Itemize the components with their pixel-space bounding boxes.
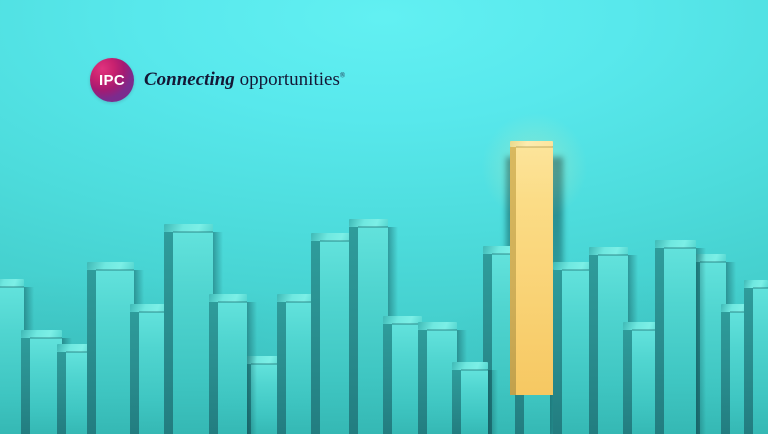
- bar-front-face: [96, 270, 134, 434]
- bar-top-edge: [96, 269, 134, 271]
- bar-side-face: [383, 324, 392, 434]
- hero-banner: IPC Connecting opportunities®: [0, 0, 768, 434]
- ipc-logo[interactable]: IPC Connecting opportunities®: [90, 58, 345, 102]
- bar-side-face: [21, 338, 30, 434]
- bar-side-face: [623, 330, 632, 434]
- bar-front-face: [173, 232, 213, 434]
- bar-drop-shadow: [488, 370, 498, 434]
- bar-side-face: [87, 270, 96, 434]
- registered-trademark-icon: ®: [340, 72, 345, 80]
- tagline-bold-word: Connecting: [144, 69, 235, 90]
- bar-top-edge: [461, 369, 488, 371]
- bar-side-face: [553, 270, 562, 434]
- bar-front-face: [218, 302, 247, 434]
- bar-side-face: [721, 312, 730, 434]
- bar-side-face: [655, 248, 664, 434]
- bar-top-edge: [664, 247, 696, 249]
- bar-side-face: [311, 241, 320, 434]
- bar: [218, 302, 247, 434]
- bar-top-edge: [516, 146, 553, 148]
- bar: [96, 270, 134, 434]
- bar-top-edge: [30, 337, 62, 339]
- ipc-logo-mark-text: IPC: [99, 72, 125, 89]
- bar-top-edge: [173, 231, 213, 233]
- bar-side-face: [164, 232, 173, 434]
- bar-top-edge: [753, 287, 768, 289]
- bar-side-face: [277, 302, 286, 434]
- bar-front-face: [664, 248, 696, 434]
- accent-bar: [516, 147, 553, 395]
- bar-top-edge: [0, 286, 24, 288]
- ipc-logo-tagline: Connecting opportunities®: [144, 69, 345, 91]
- bar-front-face: [753, 288, 768, 434]
- bar: [173, 232, 213, 434]
- bar-top-edge: [218, 301, 247, 303]
- bar-drop-shadow: [247, 302, 257, 434]
- ipc-logo-mark: IPC: [90, 58, 134, 102]
- bar-front-face: [516, 147, 553, 395]
- bar-top-edge: [358, 226, 388, 228]
- bar-side-face: [418, 330, 427, 434]
- bar-side-face: [130, 312, 139, 434]
- bar: [664, 248, 696, 434]
- bar: [461, 370, 488, 434]
- bar-side-face: [209, 302, 218, 434]
- bar-side-face: [349, 227, 358, 434]
- bar-top-edge: [427, 329, 457, 331]
- bar-side-face: [589, 255, 598, 434]
- bar-front-face: [461, 370, 488, 434]
- bar: [753, 288, 768, 434]
- bar-side-face: [57, 352, 66, 434]
- tagline-regular-word: opportunities: [240, 69, 340, 90]
- bar-side-face: [452, 370, 461, 434]
- bar-top-edge: [598, 254, 628, 256]
- bar-side-face: [744, 288, 753, 434]
- bar-drop-shadow: [696, 248, 706, 434]
